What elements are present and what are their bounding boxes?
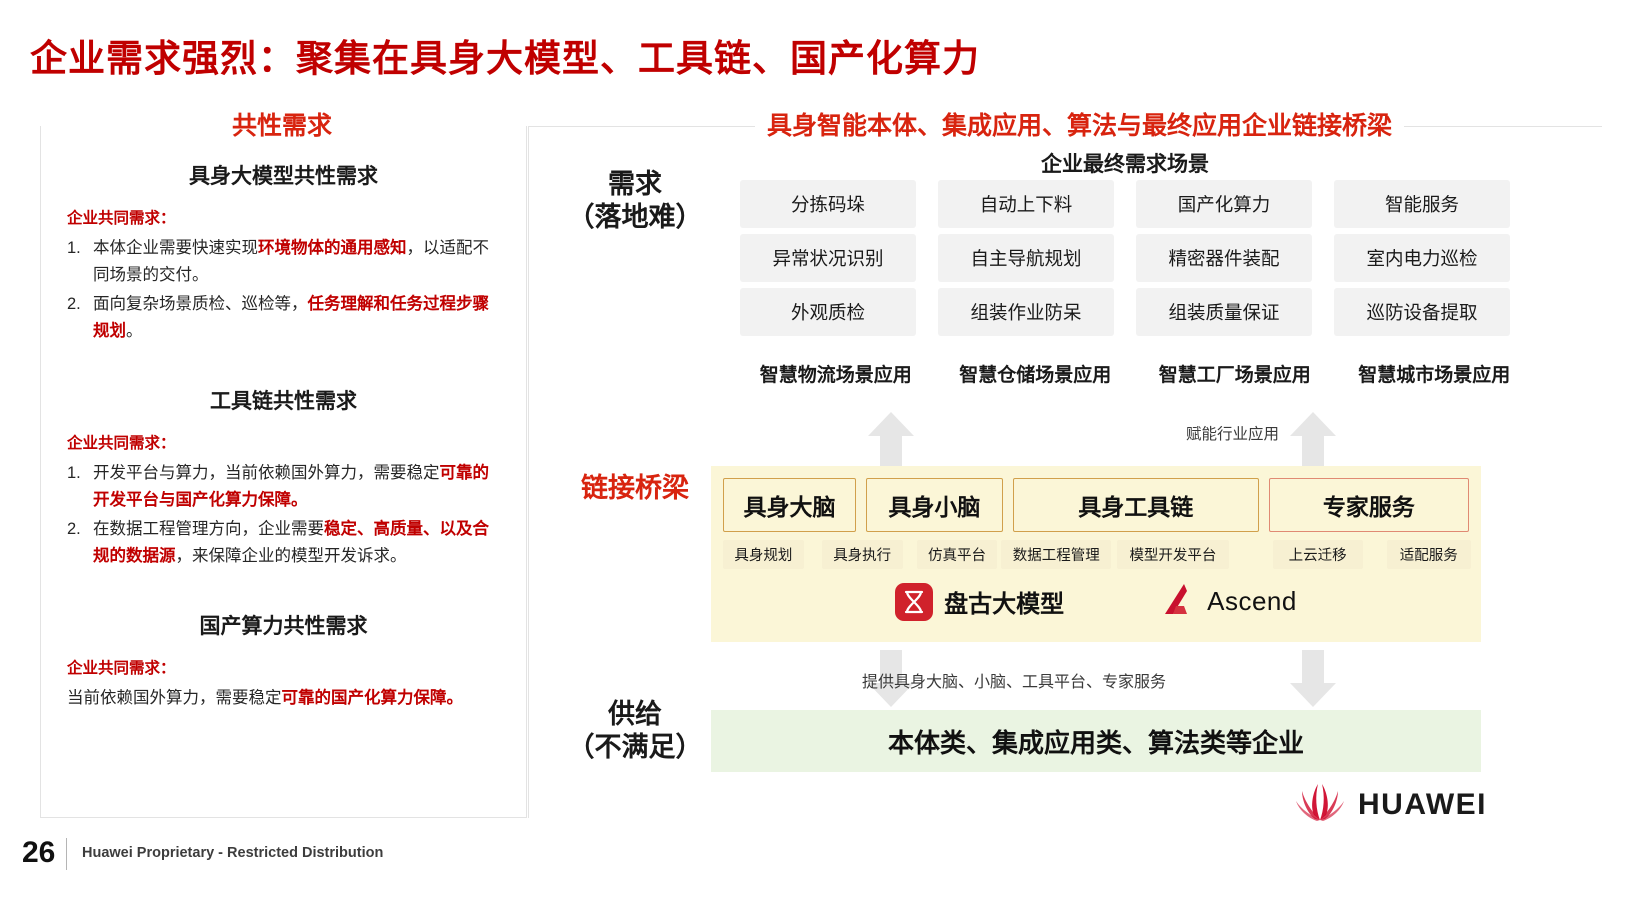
bridge-block: 具身大脑 具身小脑 具身工具链 专家服务 具身规划 具身执行 仿真平台 数据工程… [711,466,1481,642]
bridge-tag[interactable]: 上云迁移 [1273,540,1363,569]
page-title: 企业需求强烈：聚集在具身大模型、工具链、国产化算力 [30,28,980,82]
arrow-up-icon [868,412,914,468]
left-section-embodied-model: 具身大模型共性需求 企业共同需求： 1. 本体企业需要快速实现环境物体的通用感知… [67,160,500,345]
text-highlight: 环境物体的通用感知 [258,239,407,257]
arrow-stem [1302,434,1324,468]
list-item-text: 开发平台与算力，当前依赖国外算力，需要稳定可靠的开发平台与国产化算力保障。 [93,460,500,513]
bridge-tag[interactable]: 适配服务 [1387,540,1471,569]
huawei-logo: HUAWEI [1295,782,1487,827]
text-highlight: 可靠的国产化算力保障。 [282,689,464,707]
left-section-title: 国产算力共性需求 [67,610,500,640]
ascend-logo-text: Ascend [1207,586,1297,617]
left-panel: 具身大模型共性需求 企业共同需求： 1. 本体企业需要快速实现环境物体的通用感知… [40,126,527,818]
left-section-paragraph: 当前依赖国外算力，需要稳定可靠的国产化算力保障。 [67,685,500,712]
row-label-supply-line2: （不满足） [545,731,725,764]
left-section-label: 企业共同需求： [67,656,500,678]
right-panel-header: 具身智能本体、集成应用、算法与最终应用企业链接桥梁 [755,106,1404,142]
left-section-domestic-compute: 国产算力共性需求 企业共同需求： 当前依赖国外算力，需要稳定可靠的国产化算力保障… [67,610,500,712]
scenario-footer-row: 智慧物流场景应用 智慧仓储场景应用 智慧工厂场景应用 智慧城市场景应用 [740,360,1530,387]
list-item-number: 1. [67,235,93,288]
pangu-logo-text: 盘古大模型 [944,584,1064,619]
row-label-bridge: 链接桥梁 [545,466,725,505]
bridge-box-expert-service[interactable]: 专家服务 [1269,478,1469,532]
scenario-cell[interactable]: 巡防设备提取 [1334,288,1510,336]
scenario-cell[interactable]: 自主导航规划 [938,234,1114,282]
list-item-text: 面向复杂场景质检、巡检等，任务理解和任务过程步骤规划。 [93,291,500,344]
scenario-cell[interactable]: 自动上下料 [938,180,1114,228]
left-section-toolchain: 工具链共性需求 企业共同需求： 1. 开发平台与算力，当前依赖国外算力，需要稳定… [67,385,500,570]
text-plain: 。 [126,322,143,340]
list-item: 1. 开发平台与算力，当前依赖国外算力，需要稳定可靠的开发平台与国产化算力保障。 [67,460,500,513]
left-section-title: 具身大模型共性需求 [67,160,500,190]
left-panel-body: 具身大模型共性需求 企业共同需求： 1. 本体企业需要快速实现环境物体的通用感知… [41,126,526,711]
pangu-logo-item: 盘古大模型 [895,583,1064,621]
footer-confidentiality-text: Huawei Proprietary - Restricted Distribu… [82,845,383,861]
arrow-stem [1302,650,1324,684]
scenario-cell[interactable]: 分拣码垛 [740,180,916,228]
arrow-down-icon [1290,650,1336,708]
scenario-column-footer: 智慧物流场景应用 [740,360,932,387]
arrow-up-icon [1290,412,1336,468]
footer-divider [66,838,67,870]
supply-note: 提供具身大脑、小脑、工具平台、专家服务 [862,668,1166,692]
bridge-tag[interactable]: 仿真平台 [917,540,998,569]
ascend-logo-item: Ascend [1160,581,1297,622]
scenario-cell[interactable]: 外观质检 [740,288,916,336]
list-item: 2. 面向复杂场景质检、巡检等，任务理解和任务过程步骤规划。 [67,291,500,344]
scenario-cell[interactable]: 精密器件装配 [1136,234,1312,282]
scenario-cell[interactable]: 组装质量保证 [1136,288,1312,336]
enable-industry-note: 赋能行业应用 [1186,422,1279,444]
row-label-supply-line1: 供给 [545,698,725,731]
bridge-tag[interactable]: 具身规划 [723,540,804,569]
left-section-list: 1. 开发平台与算力，当前依赖国外算力，需要稳定可靠的开发平台与国产化算力保障。… [67,460,500,570]
text-plain: ，来保障企业的模型开发诉求。 [176,547,407,565]
left-section-label: 企业共同需求： [67,431,500,453]
text-plain: 本体企业需要快速实现 [93,239,258,257]
arrow-head [1290,412,1336,436]
list-item: 2. 在数据工程管理方向，企业需要稳定、高质量、以及合规的数据源，来保障企业的模… [67,516,500,569]
page-number: 26 [22,836,55,870]
scenario-grid: 分拣码垛 自动上下料 国产化算力 智能服务 异常状况识别 自主导航规划 精密器件… [740,180,1510,336]
text-plain: 在数据工程管理方向，企业需要 [93,520,324,538]
pangu-icon [895,583,933,621]
huawei-flower-icon [1295,782,1345,827]
list-item-number: 2. [67,516,93,569]
row-label-demand-line1: 需求 [545,168,725,201]
arrow-stem [880,434,902,468]
scenario-cell[interactable]: 国产化算力 [1136,180,1312,228]
scenario-section-title: 企业最终需求场景 [730,148,1520,178]
left-section-title: 工具链共性需求 [67,385,500,415]
left-section-label: 企业共同需求： [67,206,500,228]
scenario-column-footer: 智慧工厂场景应用 [1139,360,1331,387]
scenario-column-footer: 智慧仓储场景应用 [940,360,1132,387]
text-plain: 面向复杂场景质检、巡检等， [93,295,308,313]
bridge-tag[interactable]: 模型开发平台 [1117,540,1229,569]
scenario-cell[interactable]: 异常状况识别 [740,234,916,282]
bridge-box-embodied-cerebellum[interactable]: 具身小脑 [866,478,1003,532]
list-item-number: 1. [67,460,93,513]
left-panel-header: 共性需求 [218,106,346,142]
bridge-box-embodied-toolchain[interactable]: 具身工具链 [1013,478,1259,532]
huawei-wordmark: HUAWEI [1358,788,1487,822]
arrow-head [1290,683,1336,707]
left-section-list: 1. 本体企业需要快速实现环境物体的通用感知，以适配不同场景的交付。 2. 面向… [67,235,500,345]
text-plain: 当前依赖国外算力，需要稳定 [67,689,282,707]
supply-block-text: 本体类、集成应用类、算法类等企业 [888,723,1304,760]
row-label-demand: 需求 （落地难） [545,168,725,234]
ascend-icon [1160,581,1196,622]
scenario-cell[interactable]: 组装作业防呆 [938,288,1114,336]
arrow-head [868,412,914,436]
bridge-box-embodied-brain[interactable]: 具身大脑 [723,478,856,532]
supply-block: 本体类、集成应用类、算法类等企业 [711,710,1481,772]
row-label-supply: 供给 （不满足） [545,698,725,764]
bridge-box-row: 具身大脑 具身小脑 具身工具链 专家服务 [711,466,1481,532]
list-item-text: 在数据工程管理方向，企业需要稳定、高质量、以及合规的数据源，来保障企业的模型开发… [93,516,500,569]
list-item: 1. 本体企业需要快速实现环境物体的通用感知，以适配不同场景的交付。 [67,235,500,288]
bridge-tag[interactable]: 数据工程管理 [1001,540,1111,569]
list-item-text: 本体企业需要快速实现环境物体的通用感知，以适配不同场景的交付。 [93,235,500,288]
text-plain: 开发平台与算力，当前依赖国外算力，需要稳定 [93,464,440,482]
bridge-tag[interactable]: 具身执行 [822,540,903,569]
row-label-demand-line2: （落地难） [545,201,725,234]
scenario-column-footer: 智慧城市场景应用 [1339,360,1531,387]
scenario-cell[interactable]: 智能服务 [1334,180,1510,228]
bridge-tag-row: 具身规划 具身执行 仿真平台 数据工程管理 模型开发平台 上云迁移 适配服务 [711,532,1481,569]
bridge-logo-row: 盘古大模型 Ascend [711,581,1481,622]
scenario-cell[interactable]: 室内电力巡检 [1334,234,1510,282]
list-item-number: 2. [67,291,93,344]
